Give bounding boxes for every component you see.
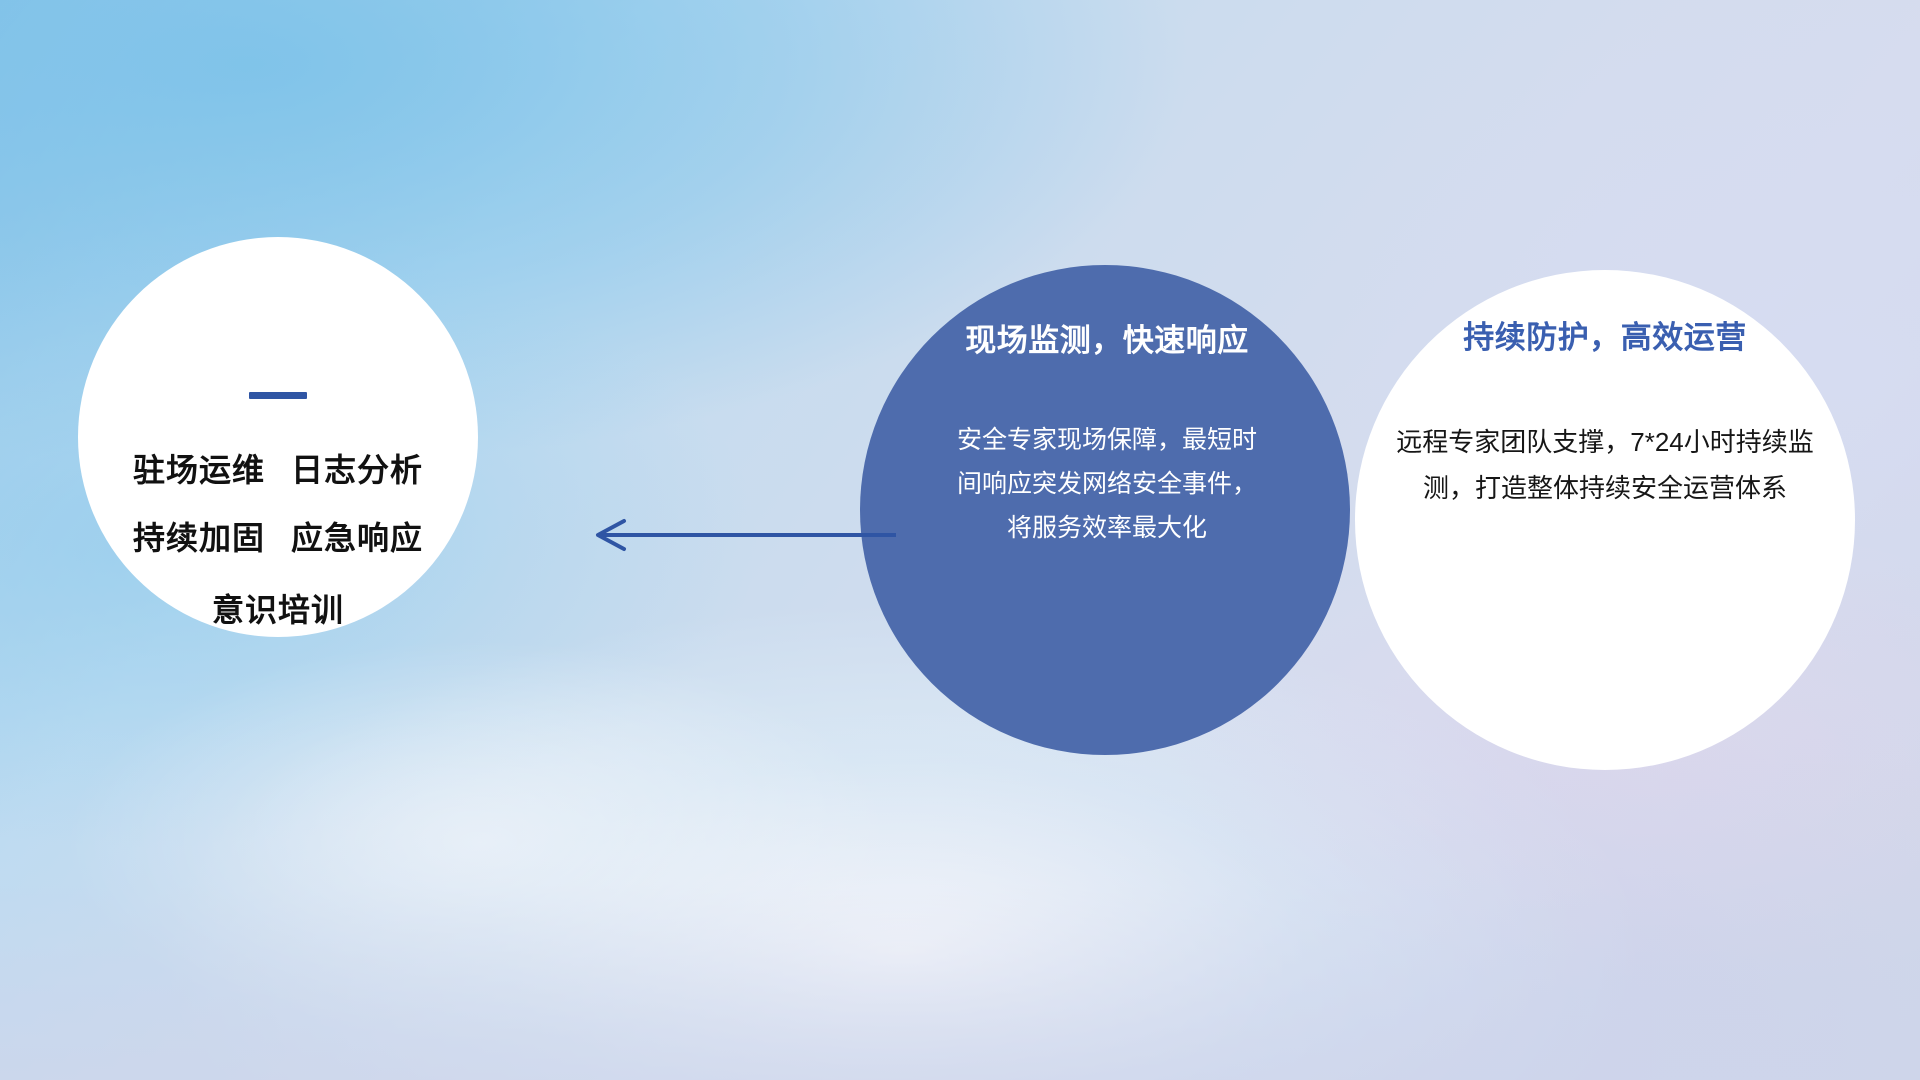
right-white-circle — [1355, 270, 1855, 770]
left-pointing-arrow-icon — [580, 505, 900, 565]
middle-blue-circle — [860, 265, 1350, 755]
slide-canvas: 驻场运维日志分析 持续加固应急响应 意识培训 现场监测，快速响应 安全专家现场保… — [0, 0, 1920, 1080]
left-white-circle — [78, 237, 478, 637]
